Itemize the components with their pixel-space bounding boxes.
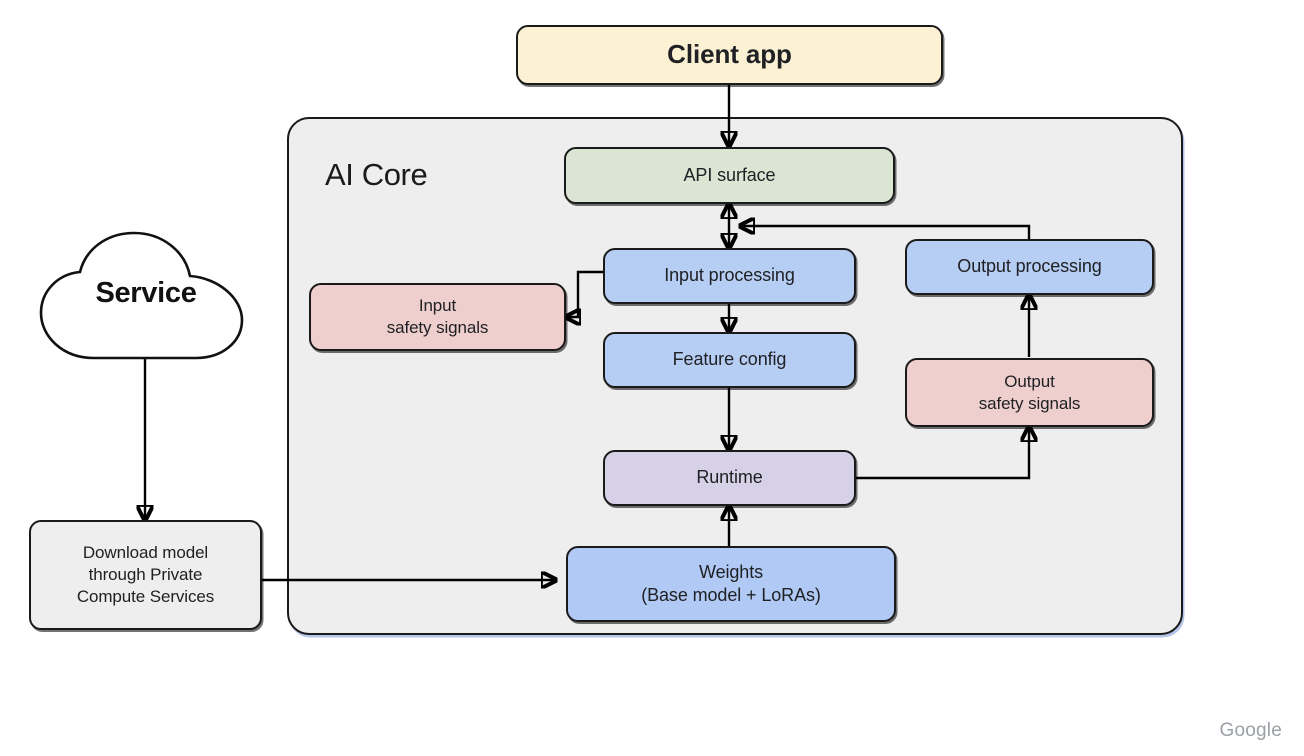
- input-safety-line-2: safety signals: [387, 318, 489, 337]
- service-label: Service: [46, 277, 246, 310]
- node-download-model[interactable]: Download model through Private Compute S…: [29, 520, 262, 630]
- weights-line-2: (Base model + LoRAs): [641, 585, 821, 605]
- download-model-line-1: Download model: [83, 543, 208, 562]
- input-safety-signals-label: Input safety signals: [379, 295, 497, 339]
- node-weights[interactable]: Weights (Base model + LoRAs): [566, 546, 896, 622]
- output-safety-signals-label: Output safety signals: [971, 371, 1089, 415]
- ai-core-title: AI Core: [325, 157, 427, 193]
- node-output-processing[interactable]: Output processing: [905, 239, 1154, 295]
- weights-line-1: Weights: [699, 562, 763, 582]
- runtime-label: Runtime: [688, 466, 770, 489]
- output-processing-label: Output processing: [949, 255, 1109, 278]
- node-input-processing[interactable]: Input processing: [603, 248, 856, 304]
- node-client-app[interactable]: Client app: [516, 25, 943, 85]
- api-surface-label: API surface: [676, 164, 784, 187]
- output-safety-line-2: safety signals: [979, 394, 1081, 413]
- node-output-safety-signals[interactable]: Output safety signals: [905, 358, 1154, 427]
- download-model-line-2: through Private: [89, 565, 203, 584]
- node-runtime[interactable]: Runtime: [603, 450, 856, 506]
- node-api-surface[interactable]: API surface: [564, 147, 895, 204]
- weights-label: Weights (Base model + LoRAs): [633, 561, 829, 607]
- diagram-canvas: AI Core: [0, 0, 1304, 756]
- input-processing-label: Input processing: [656, 264, 802, 287]
- node-feature-config[interactable]: Feature config: [603, 332, 856, 388]
- node-input-safety-signals[interactable]: Input safety signals: [309, 283, 566, 351]
- feature-config-label: Feature config: [665, 348, 795, 371]
- input-safety-line-1: Input: [419, 296, 456, 315]
- download-model-label: Download model through Private Compute S…: [69, 542, 222, 607]
- client-app-label: Client app: [659, 38, 800, 71]
- google-wordmark: Google: [1220, 720, 1282, 742]
- download-model-line-3: Compute Services: [77, 587, 214, 606]
- output-safety-line-1: Output: [1004, 372, 1054, 391]
